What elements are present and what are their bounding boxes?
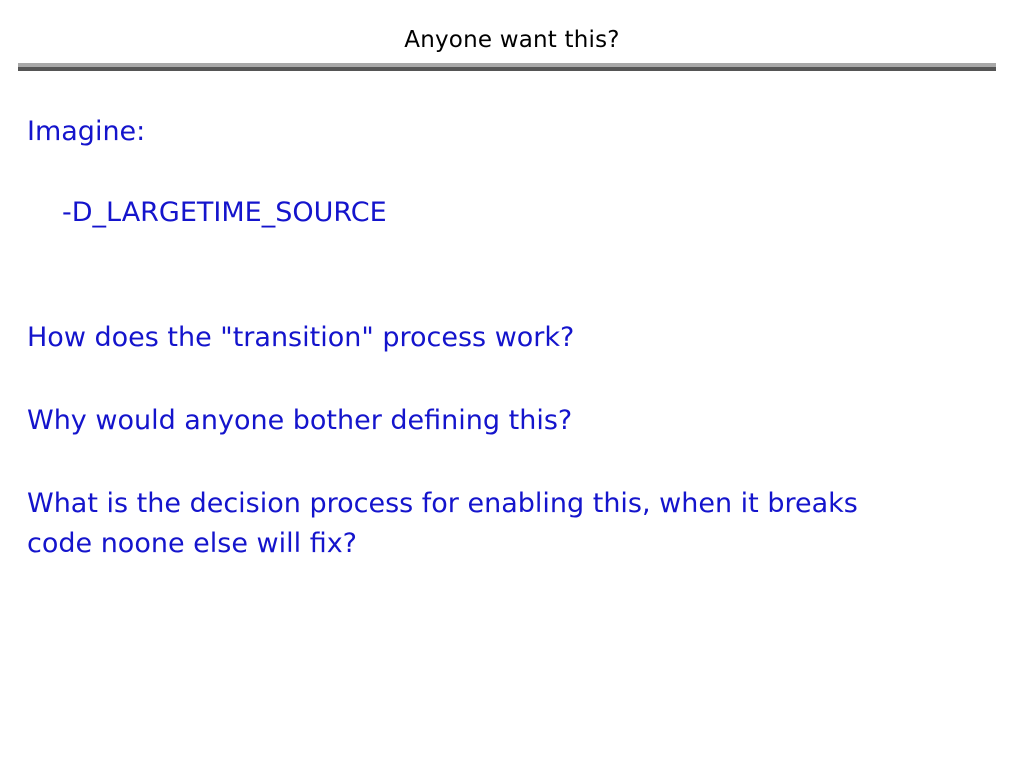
compiler-define-flag: -D_LARGETIME_SOURCE: [62, 193, 387, 233]
question-decision-process-line2: code noone else will fix?: [27, 524, 357, 564]
slide-body: Imagine: -D_LARGETIME_SOURCE How does th…: [0, 0, 1024, 768]
question-why-define: Why would anyone bother defining this?: [27, 401, 572, 441]
question-transition-process: How does the "transition" process work?: [27, 318, 574, 358]
presentation-slide: Anyone want this? Imagine: -D_LARGETIME_…: [0, 0, 1024, 768]
imagine-label: Imagine:: [27, 112, 145, 152]
question-decision-process-line1: What is the decision process for enablin…: [27, 484, 858, 524]
